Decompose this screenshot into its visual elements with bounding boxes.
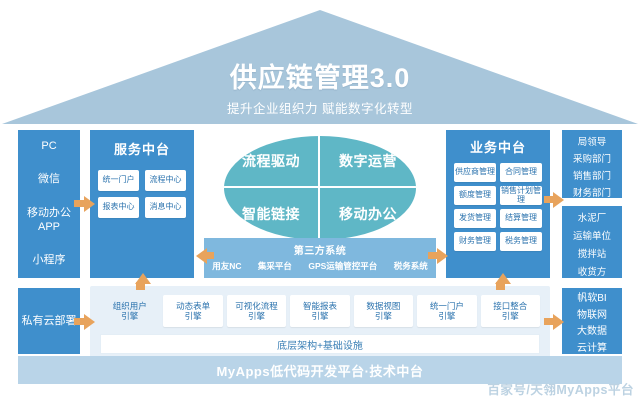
roles-list: 局领导 采购部门 销售部门 财务部门 [562,130,622,206]
channel-list: PC 微信 移动办公APP 小程序 [18,130,80,278]
arrow-right-icon [84,196,95,212]
service-platform-column: 服务中台 统一门户 流程中心 报表中心 消息中心 [90,130,194,278]
engine-item[interactable]: 智能报表引擎 [290,295,349,327]
page-subtitle: 提升企业组织力 赋能数字化转型 [0,98,640,117]
service-cell[interactable]: 流程中心 [145,170,186,191]
tech-item[interactable]: 大数据 [577,326,607,339]
role-item[interactable]: 财务部门 [573,188,611,200]
service-platform-cells: 统一门户 流程中心 报表中心 消息中心 [90,170,194,218]
third-party-band: 第三方系统 用友NC 集采平台 GPS运输管控平台 税务系统 [204,238,436,278]
tech-item[interactable]: 物联网 [577,310,607,323]
business-cell[interactable]: 结算管理 [500,209,542,228]
service-cell[interactable]: 消息中心 [145,197,186,218]
channel-item[interactable]: PC [41,140,56,154]
business-cell[interactable]: 额度管理 [454,186,496,205]
engine-item[interactable]: 动态表单引擎 [163,295,222,327]
partner-item[interactable]: 水泥厂 [578,213,607,225]
third-party-item[interactable]: 税务系统 [394,260,428,272]
arrow-right-icon [553,192,564,208]
third-party-item[interactable]: GPS运输管控平台 [308,260,377,272]
partner-item[interactable]: 收货方 [578,267,607,279]
service-platform-title: 服务中台 [90,130,194,158]
channel-item[interactable]: 小程序 [33,254,66,268]
arrow-stem [74,318,84,325]
business-platform-title: 业务中台 [446,130,550,156]
role-item[interactable]: 局领导 [578,137,607,149]
third-party-items: 用友NC 集采平台 GPS运输管控平台 税务系统 [204,260,436,272]
third-party-item[interactable]: 用友NC [212,260,241,272]
right-tech-column: 帆软BI 物联网 大数据 云计算 [562,288,622,354]
arrow-right-icon [553,314,564,330]
tech-item[interactable]: 云计算 [577,343,607,356]
arrow-up-icon [495,273,511,284]
channel-item[interactable]: 移动办公APP [18,207,80,235]
infrastructure-bar: 底层架构+基础设施 [100,334,540,354]
watermark: 百家号/天翎MyApps平台 [487,379,634,398]
engine-item[interactable]: 数据视图引擎 [354,295,413,327]
right-partners-column: 水泥厂 运输单位 搅拌站 收货方 [562,206,622,278]
third-party-item[interactable]: 集采平台 [258,260,292,272]
service-cell[interactable]: 统一门户 [98,170,139,191]
arrow-up-icon [135,273,151,284]
private-cloud-block: 私有云部署 [18,288,80,354]
arrow-stem [74,200,84,207]
engines-row: 组织用户引擎 动态表单引擎 可视化流程引擎 智能报表引擎 数据视图引擎 统一门户… [100,292,540,330]
partner-item[interactable]: 搅拌站 [578,249,607,261]
engine-item[interactable]: 接口整合引擎 [481,295,540,327]
business-platform-column: 业务中台 供应商管理 合同管理 额度管理 销售计划管理 发货管理 结算管理 财务… [446,130,550,278]
role-item[interactable]: 采购部门 [573,154,611,166]
role-item[interactable]: 销售部门 [573,171,611,183]
engine-item[interactable]: 统一门户引擎 [417,295,476,327]
third-party-title: 第三方系统 [204,238,436,257]
business-cell[interactable]: 财务管理 [454,232,496,251]
service-cell[interactable]: 报表中心 [98,197,139,218]
tech-list: 帆软BI 物联网 大数据 云计算 [562,288,622,360]
core-capability-ellipse: 流程驱动 数字运营 智能链接 移动办公 [224,136,416,240]
arrow-right-icon [84,314,95,330]
business-cell[interactable]: 合同管理 [500,163,542,182]
business-cell[interactable]: 发货管理 [454,209,496,228]
engine-item[interactable]: 可视化流程引擎 [227,295,286,327]
private-cloud-label: 私有云部署 [22,314,77,328]
partners-list: 水泥厂 运输单位 搅拌站 收货方 [562,206,622,286]
arrow-right-icon [437,248,448,264]
architecture-diagram: 供应链管理3.0 提升企业组织力 赋能数字化转型 PC 微信 移动办公APP 小… [0,0,640,400]
channel-item[interactable]: 微信 [38,173,60,187]
business-cell[interactable]: 销售计划管理 [500,186,542,205]
business-cell[interactable]: 供应商管理 [454,163,496,182]
business-platform-cells: 供应商管理 合同管理 额度管理 销售计划管理 发货管理 结算管理 财务管理 税务… [446,163,550,251]
partner-item[interactable]: 运输单位 [573,231,611,243]
business-cell[interactable]: 税务管理 [500,232,542,251]
left-channel-column: PC 微信 移动办公APP 小程序 [18,130,80,278]
page-title: 供应链管理3.0 [0,56,640,95]
tech-item[interactable]: 帆软BI [577,293,606,306]
engine-item[interactable]: 组织用户引擎 [100,295,159,327]
arrow-stem [206,252,214,259]
right-roles-column: 局领导 采购部门 销售部门 财务部门 [562,130,622,198]
